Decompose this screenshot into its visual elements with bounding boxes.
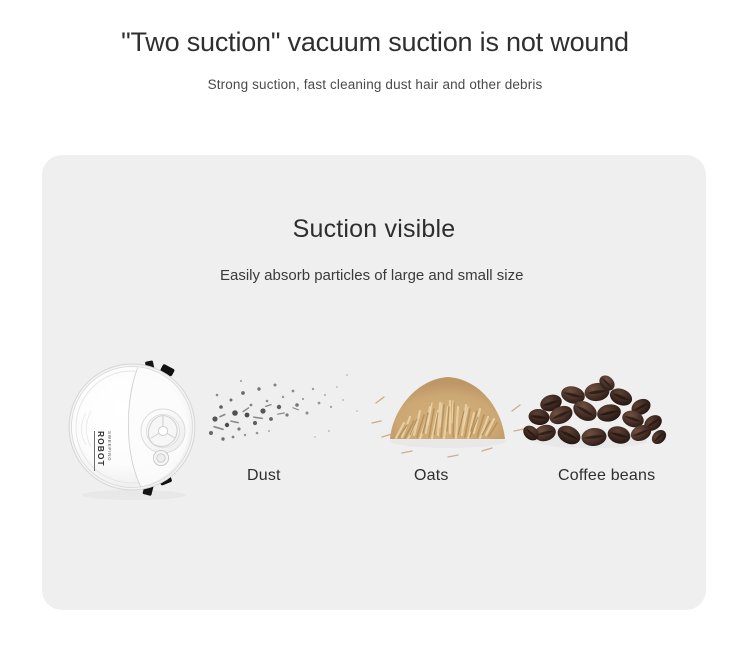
card-subtitle: Easily absorb particles of large and sma… [220, 267, 550, 286]
sample-row: Dust [42, 345, 706, 520]
page-subtitle: Strong suction, fast cleaning dust hair … [0, 60, 750, 92]
coffee-bean-pile-art [507, 345, 682, 465]
sample-label-dust: Dust [247, 467, 281, 485]
sample-column-dust: Dust [197, 345, 372, 520]
sample-label-oats: Oats [414, 467, 449, 485]
page-title: "Two suction" vacuum suction is not woun… [0, 0, 750, 60]
card-title: Suction visible [42, 215, 706, 244]
dust-cloud-art [197, 345, 372, 465]
sample-label-coffee-beans: Coffee beans [558, 467, 655, 485]
page-header: "Two suction" vacuum suction is not woun… [0, 0, 750, 92]
sample-column-coffee: Coffee beans [507, 345, 682, 520]
dust-cloud-icon [197, 345, 372, 465]
coffee-bean-pile-icon [507, 345, 682, 465]
feature-card: Suction visible Easily absorb particles … [42, 155, 706, 610]
